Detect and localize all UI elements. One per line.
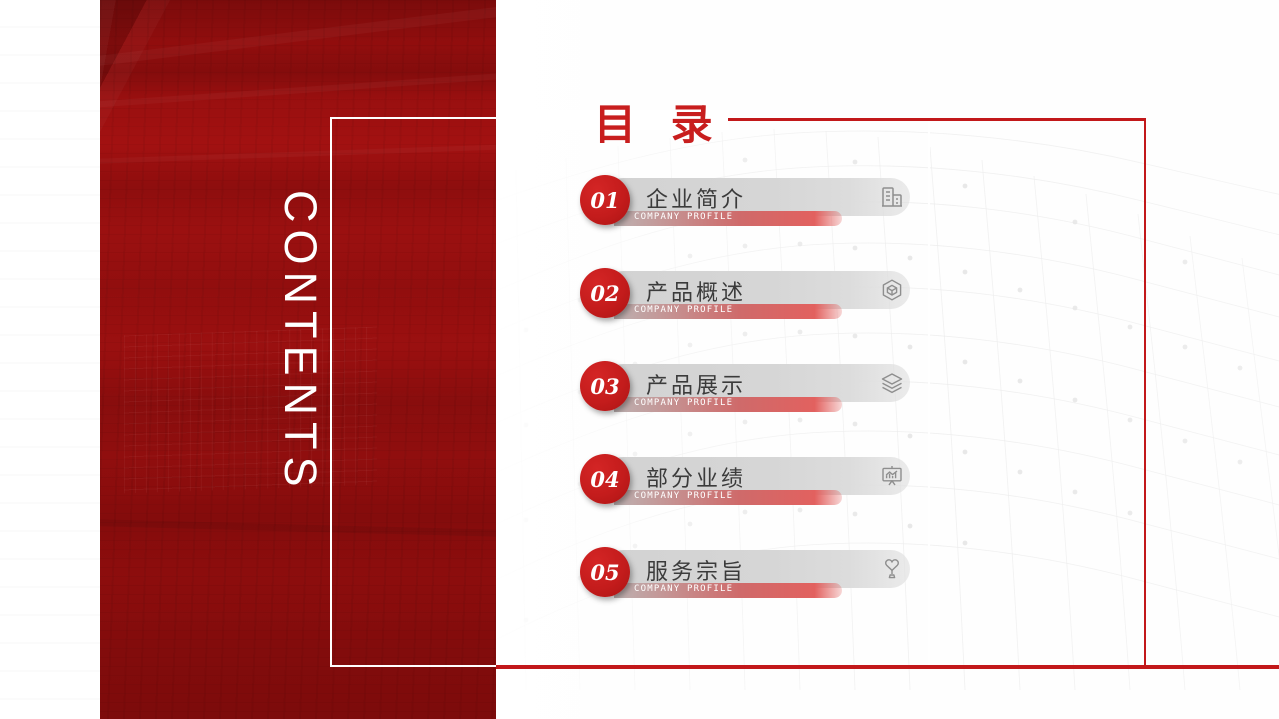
slide-canvas: CONTENTS 目 录 COMPANY PROFILE 企业简介 01 [0,0,1279,719]
bottom-accent-rule [496,665,1279,669]
building-icon [880,185,904,209]
item-number: 03 [580,361,630,411]
item-label: 产品概述 [646,275,746,307]
list-item[interactable]: COMPANY PROFILE 服务宗旨 05 [580,550,920,602]
title-divider-rule [728,118,1146,121]
list-item[interactable]: COMPANY PROFILE 产品展示 03 [580,364,920,416]
cube-hexagon-icon [880,278,904,302]
toc-list: COMPANY PROFILE 企业简介 01 COMPANY PROFILE … [580,170,1140,610]
item-number: 04 [580,454,630,504]
item-label: 部分业绩 [646,461,746,493]
page-title: 目 录 [594,91,723,152]
left-background-band [0,0,100,719]
list-item[interactable]: COMPANY PROFILE 产品概述 02 [580,271,920,323]
list-item[interactable]: COMPANY PROFILE 部分业绩 04 [580,457,920,509]
heart-award-icon [880,557,904,581]
item-number: 01 [580,175,630,225]
layers-icon [880,371,904,395]
item-label: 企业简介 [646,182,746,214]
list-item[interactable]: COMPANY PROFILE 企业简介 01 [580,178,920,230]
item-number: 02 [580,268,630,318]
presentation-chart-icon [880,464,904,488]
item-number: 05 [580,547,630,597]
item-label: 服务宗旨 [646,554,746,586]
contents-vertical-label: CONTENTS [274,190,326,494]
item-label: 产品展示 [646,368,746,400]
